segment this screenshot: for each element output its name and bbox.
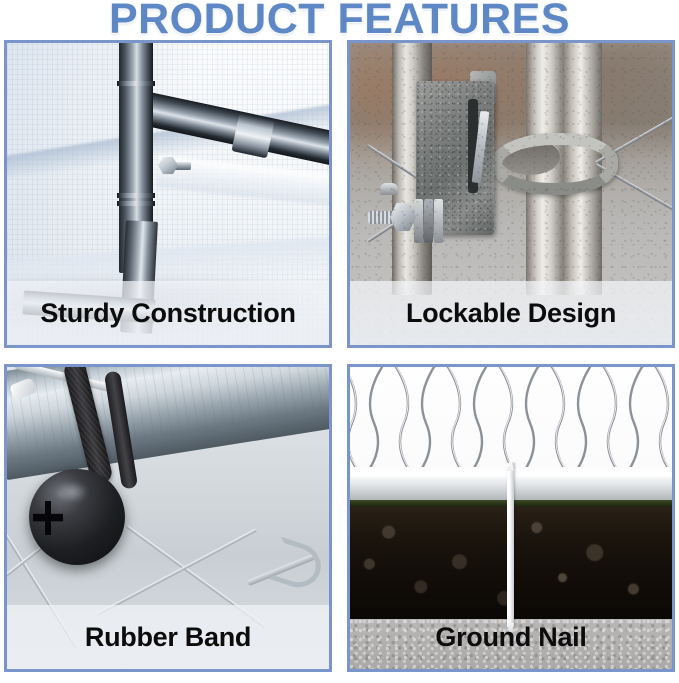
page-title: PRODUCT FEATURES [0, 0, 679, 40]
pipe-collar-ring-top [117, 81, 155, 86]
feature-caption-label: Sturdy Construction [40, 298, 295, 329]
feature-panel-lockable-design[interactable]: Lockable Design [347, 40, 675, 348]
rubber-ball-highlight [55, 481, 89, 503]
caption-band: Sturdy Construction [7, 281, 329, 345]
caption-band: Rubber Band [7, 605, 329, 669]
feature-caption-label: Ground Nail [435, 622, 586, 653]
chain-link-mesh-icon [350, 367, 672, 471]
product-features-infographic: PRODUCT FEATURES [0, 0, 679, 683]
feature-panel-grid: Sturdy Construction [4, 40, 675, 679]
pipe-collar-ring-mid2 [117, 201, 155, 206]
pipe-collar-ring-mid [117, 193, 155, 198]
ground-nail-shaft [507, 463, 514, 627]
feature-panel-rubber-band[interactable]: Rubber Band [4, 364, 332, 672]
caption-band: Lockable Design [350, 281, 672, 345]
feature-caption-label: Rubber Band [85, 622, 251, 653]
feature-panel-ground-nail[interactable]: Ground Nail [347, 364, 675, 672]
caption-band: Ground Nail [350, 605, 672, 669]
diagonal-pipe-sleeve [231, 114, 274, 159]
feature-panel-sturdy-construction[interactable]: Sturdy Construction [4, 40, 332, 348]
feature-caption-label: Lockable Design [406, 298, 616, 329]
